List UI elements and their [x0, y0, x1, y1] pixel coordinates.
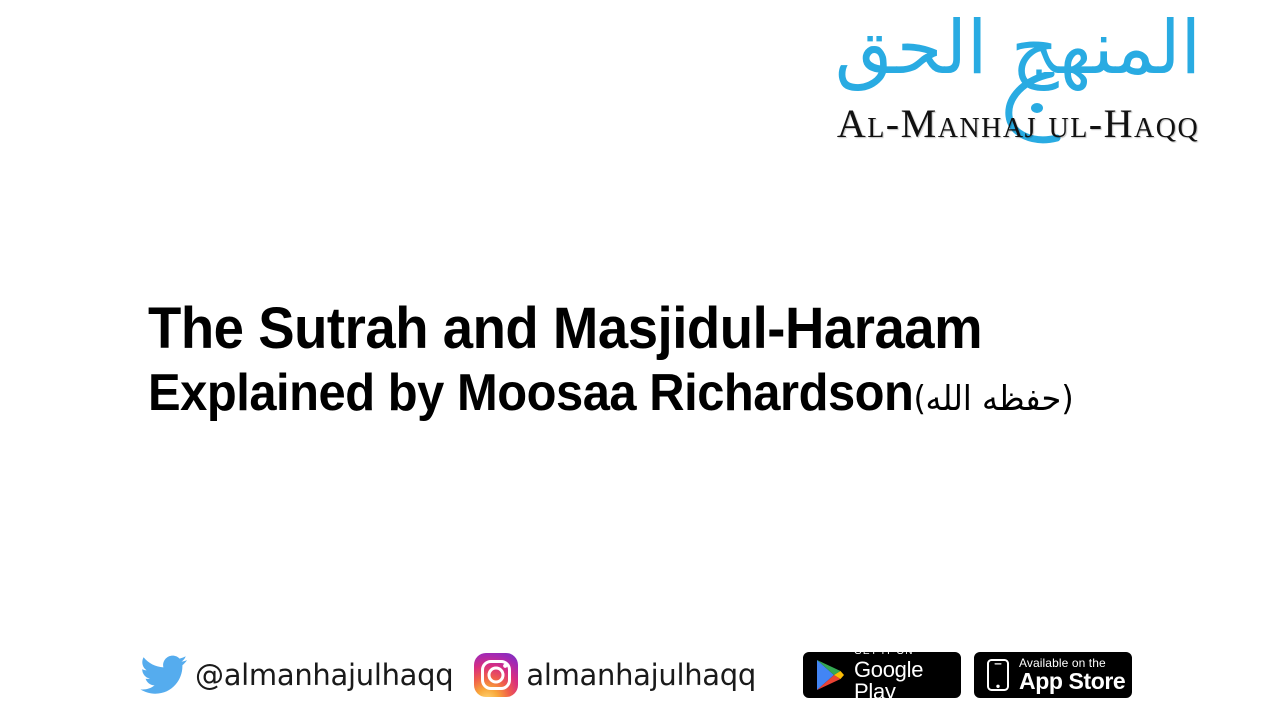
app-store-badge[interactable]: Available on the App Store: [973, 651, 1133, 699]
slide-canvas: المنهج الحق Al-Manhaj ul-Haqq The Sutrah…: [0, 0, 1280, 720]
title-line-2-arabic-duaa: (حفظه الله): [913, 379, 1078, 419]
instagram-handle-group[interactable]: almanhajulhaqq: [473, 646, 756, 704]
app-store-bottom-label: App Store: [1019, 670, 1125, 693]
apple-iphone-icon: [987, 659, 1009, 691]
footer-bar: @almanhajulhaqq: [140, 646, 1150, 704]
title-line-2-text: Explained by Moosaa Richardson: [148, 364, 913, 422]
title-line-1: The Sutrah and Masjidul-Haraam: [148, 296, 1097, 362]
logo-wordmark: Al-Manhaj ul-Haqq: [768, 100, 1268, 147]
google-play-text: GET IT ON Google Play: [854, 651, 961, 699]
google-play-bottom-label: Google Play: [854, 659, 961, 699]
google-play-icon: [815, 659, 845, 691]
twitter-handle-group[interactable]: @almanhajulhaqq: [140, 646, 453, 704]
brand-logo: المنهج الحق Al-Manhaj ul-Haqq: [768, 8, 1268, 158]
instagram-icon[interactable]: [473, 652, 519, 698]
instagram-handle-label: almanhajulhaqq: [526, 661, 756, 690]
twitter-handle-label: @almanhajulhaqq: [195, 661, 453, 690]
twitter-icon[interactable]: [140, 655, 188, 695]
google-play-badge[interactable]: GET IT ON Google Play: [802, 651, 962, 699]
logo-arabic-calligraphy: المنهج الحق: [768, 0, 1268, 98]
slide-title-block: The Sutrah and Masjidul-Haraam Explained…: [148, 296, 1158, 430]
title-line-2: Explained by Moosaa Richardson(حفظه الله…: [148, 362, 1097, 430]
app-store-text: Available on the App Store: [1019, 657, 1125, 693]
